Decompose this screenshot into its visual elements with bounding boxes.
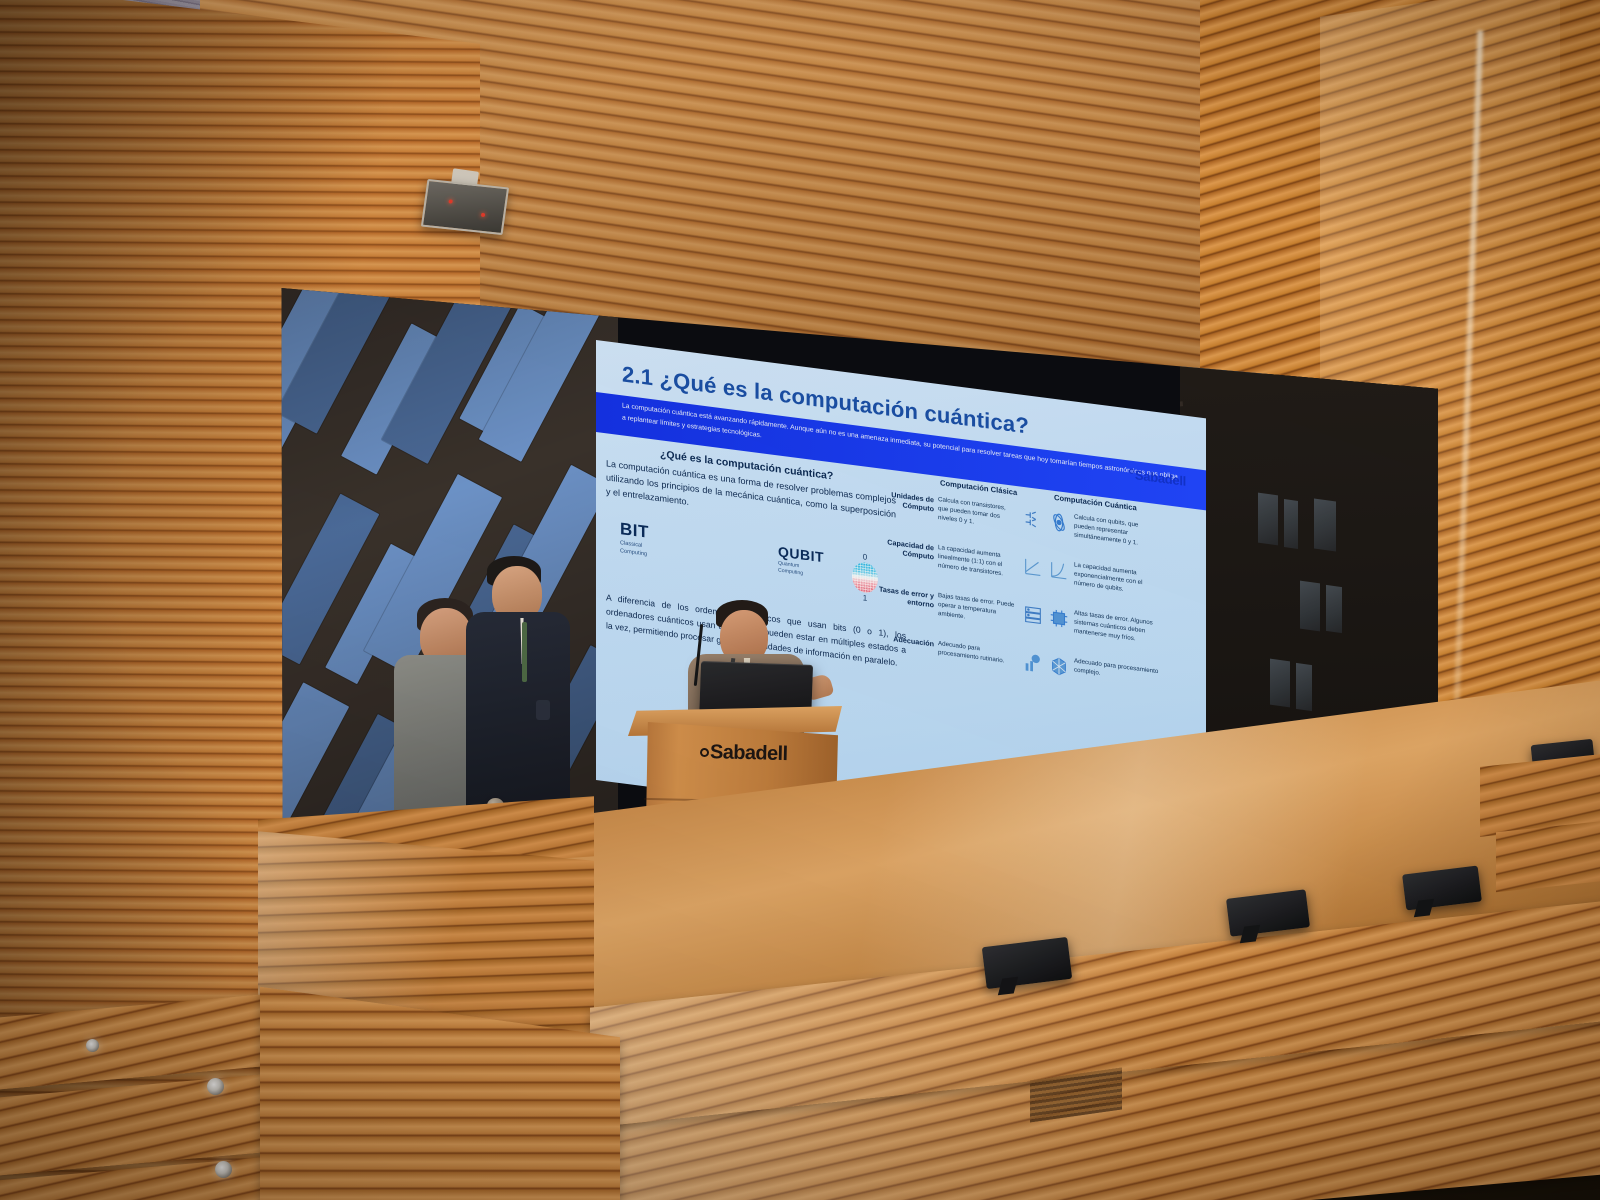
bit-sublabel: ClassicalComputing (620, 540, 649, 559)
sabadell-logo-mark (1129, 468, 1134, 474)
bit-label: BIT (620, 519, 649, 543)
lectern-logo: Sabadell (700, 741, 788, 766)
av-panel-led-1 (448, 199, 453, 203)
lectern-logo-mark (700, 748, 709, 757)
step-light-1 (207, 1078, 224, 1095)
qubit-block: QUBIT QuantumComputing (778, 543, 824, 580)
rear-bench-2 (1496, 820, 1600, 893)
av-panel-led-2 (481, 213, 486, 217)
lectern-logo-text: Sabadell (710, 741, 788, 765)
comparison-table: Computación Clásica Computación Cuántica… (914, 475, 1196, 721)
auditorium-scene: dell 2.1 ¿Qué es la computación cuántica… (0, 0, 1600, 1200)
step-light-3 (86, 1039, 99, 1052)
exponential-graph-icon (1048, 558, 1070, 583)
attendee-fg-badge (536, 700, 550, 720)
server-icon (1022, 603, 1044, 628)
linear-graph-icon (1022, 555, 1044, 580)
atom-icon (1048, 510, 1070, 535)
network-icon (1048, 654, 1070, 679)
bit-block: BIT ClassicalComputing (620, 519, 649, 559)
attendee-fg-lanyard (522, 622, 527, 682)
chip-icon (1048, 606, 1070, 631)
transistor-icon (1022, 507, 1044, 532)
bar-chart-icon (1022, 651, 1044, 676)
step-light-2 (215, 1161, 232, 1178)
wall-mounted-av-panel (421, 179, 509, 235)
attendee-fg-torso (466, 612, 570, 818)
